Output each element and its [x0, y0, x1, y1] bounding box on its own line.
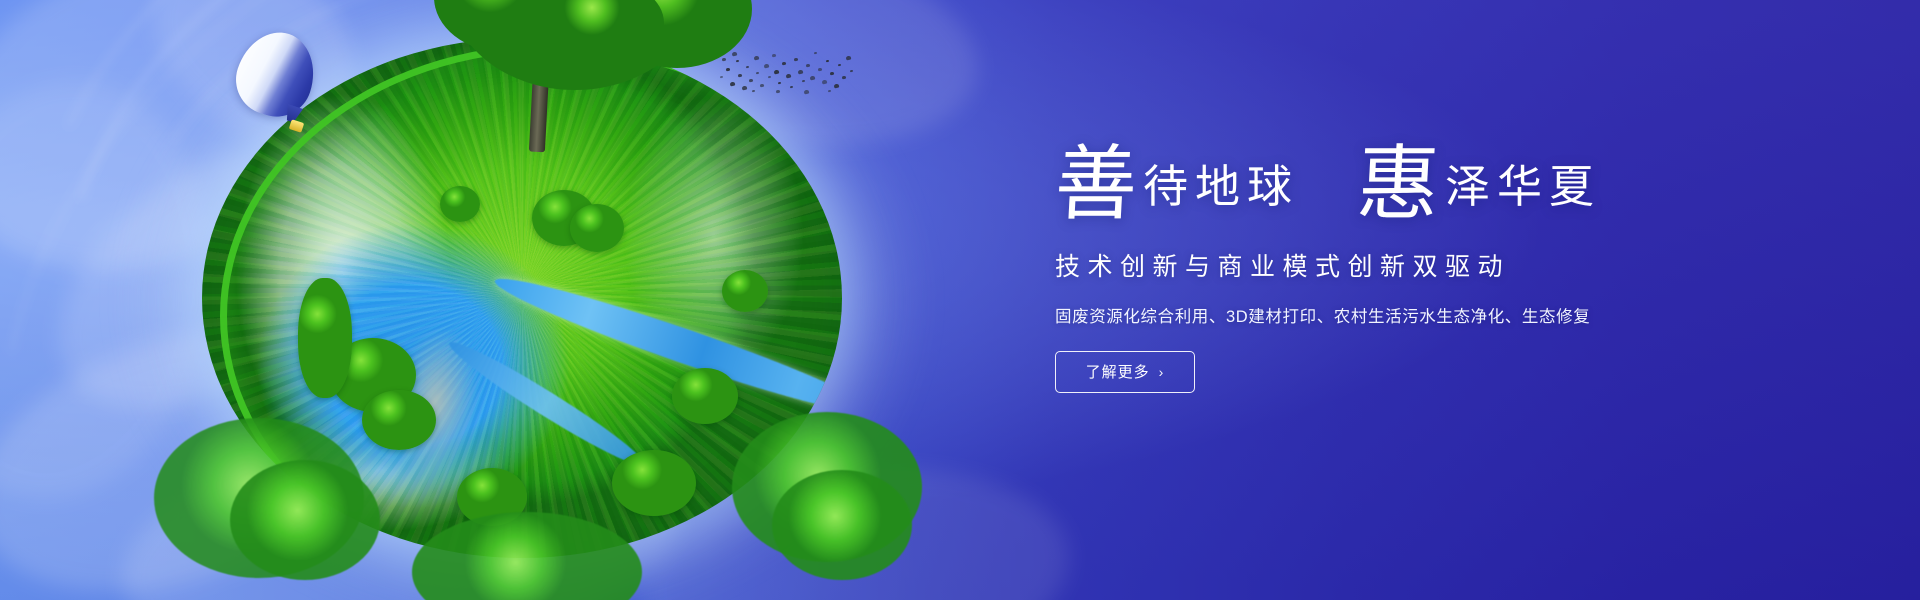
bird	[794, 58, 799, 62]
tree-bush	[362, 390, 436, 450]
bird	[790, 86, 793, 89]
bird	[798, 70, 804, 75]
hero-copy: 善 待地球 惠 泽华夏 技术创新与商业模式创新双驱动 固废资源化综合利用、3D建…	[1055, 150, 1755, 393]
headline-lead-char: 惠	[1355, 150, 1441, 221]
bird	[776, 90, 781, 94]
bird	[830, 72, 835, 76]
hero-subtitle: 技术创新与商业模式创新双驱动	[1055, 247, 1755, 283]
bird	[810, 76, 816, 81]
learn-more-label: 了解更多	[1086, 361, 1150, 382]
bird	[828, 90, 831, 93]
bird	[826, 60, 829, 63]
bird	[850, 70, 853, 73]
page-title: 善 待地球 惠 泽华夏	[1055, 150, 1755, 221]
tree-bush	[440, 186, 480, 222]
tree-bush	[570, 204, 624, 252]
bird	[786, 74, 792, 79]
bird	[752, 90, 755, 93]
tree-bush	[612, 450, 696, 516]
bird	[846, 56, 852, 61]
bird	[774, 70, 780, 75]
bird	[768, 76, 771, 79]
bird-flock-image	[716, 46, 856, 98]
bird	[818, 68, 823, 72]
headline-phrase-2: 惠 泽华夏	[1357, 150, 1601, 221]
bird	[720, 76, 723, 79]
bird	[749, 79, 754, 83]
bird	[772, 54, 777, 58]
bird	[802, 80, 805, 83]
foreground-tree	[772, 470, 912, 580]
bird	[742, 86, 748, 91]
bird	[764, 64, 770, 69]
chevron-right-icon: ›	[1159, 364, 1165, 380]
tree-bush	[672, 368, 738, 424]
hero-banner: 善 待地球 惠 泽华夏 技术创新与商业模式创新双驱动 固废资源化综合利用、3D建…	[0, 0, 1920, 600]
bird	[806, 64, 811, 68]
balloon-basket	[289, 119, 304, 133]
foreground-tree	[230, 460, 380, 580]
bird	[756, 72, 759, 75]
bird	[730, 82, 736, 87]
bird	[814, 52, 817, 55]
bird	[722, 58, 727, 62]
headline-lead-char: 善	[1053, 150, 1139, 221]
bird	[736, 60, 739, 63]
bird	[732, 52, 738, 57]
bird	[738, 74, 743, 78]
bird	[838, 64, 841, 67]
bird	[834, 84, 840, 89]
bird	[804, 90, 810, 95]
bird	[746, 66, 749, 69]
tree-bush	[298, 278, 352, 398]
bird	[782, 62, 787, 66]
headline-rest-chars: 待地球	[1143, 164, 1299, 221]
bird	[760, 84, 765, 88]
bird	[822, 80, 828, 85]
tree-bush	[722, 270, 768, 312]
hot-air-balloon-image	[238, 32, 330, 140]
headline-rest-chars: 泽华夏	[1445, 164, 1601, 221]
bird	[726, 68, 731, 72]
bird	[778, 82, 781, 85]
headline-phrase-1: 善 待地球	[1055, 150, 1299, 221]
hero-description: 固废资源化综合利用、3D建材打印、农村生活污水生态净化、生态修复	[1055, 303, 1755, 327]
learn-more-button[interactable]: 了解更多 ›	[1055, 351, 1195, 393]
bird	[842, 76, 847, 80]
bird	[754, 56, 760, 61]
balloon-envelope	[227, 22, 325, 125]
